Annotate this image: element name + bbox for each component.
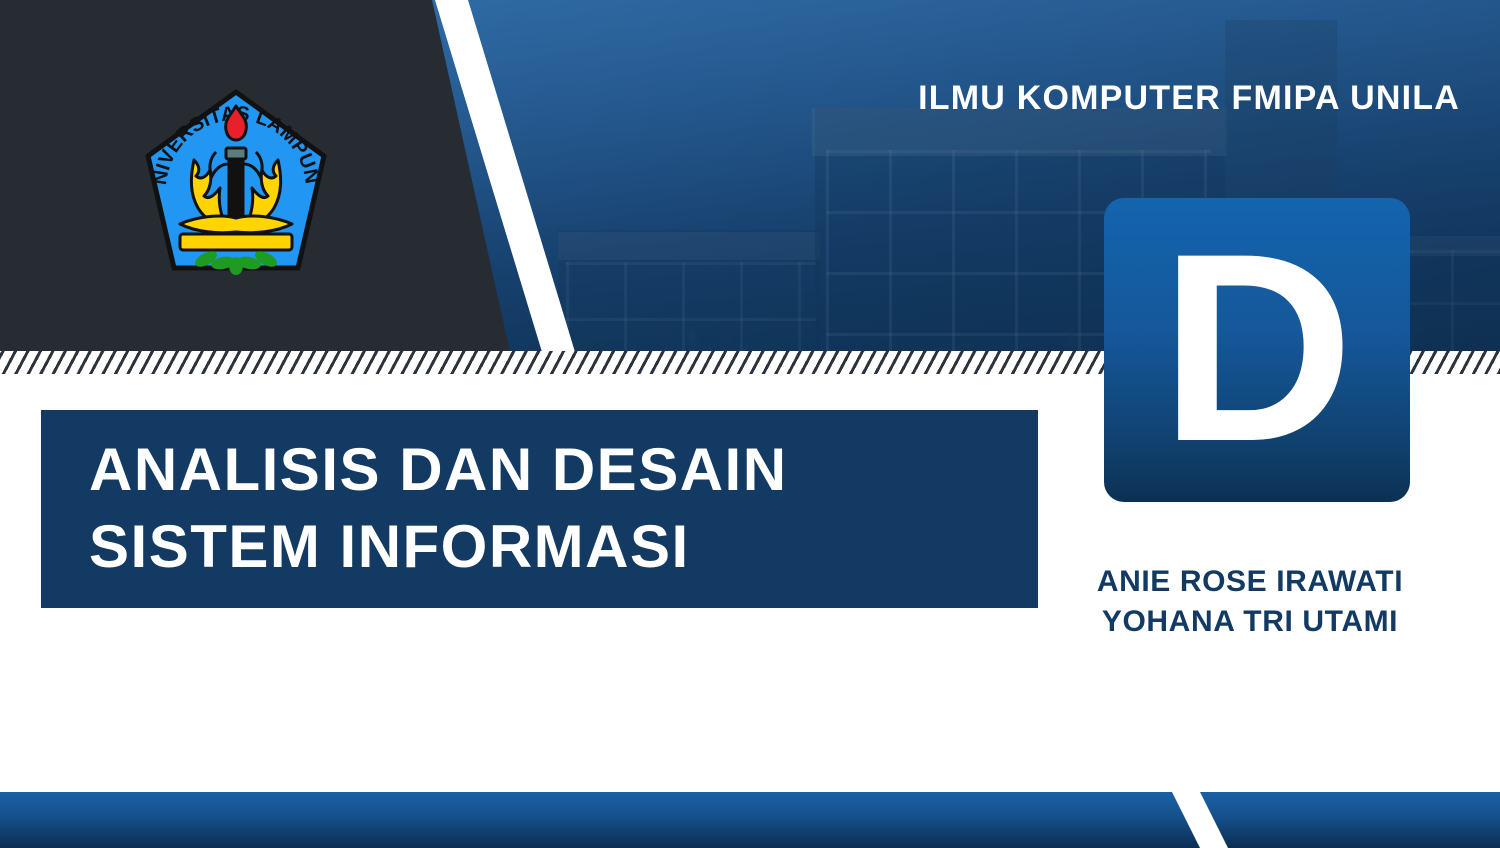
universitas-lampung-logo: UNIVERSITAS LAMPUNG <box>128 82 344 298</box>
bottom-accent-bar <box>0 792 1500 848</box>
author-name-2: YOHANA TRI UTAMI <box>1020 602 1480 642</box>
slide-title-line-1: ANALISIS DAN DESAIN <box>89 432 998 509</box>
presentation-slide: ILMU KOMPUTER FMIPA UNILA UNIVERSITAS LA… <box>0 0 1500 848</box>
letter-d-badge: D <box>1104 198 1410 502</box>
author-names: ANIE ROSE IRAWATI YOHANA TRI UTAMI <box>1020 562 1480 641</box>
letter-d-glyph: D <box>1160 213 1354 481</box>
slide-title-box: ANALISIS DAN DESAIN SISTEM INFORMASI <box>41 410 1038 608</box>
header-title: ILMU KOMPUTER FMIPA UNILA <box>700 80 1460 117</box>
slide-title-line-2: SISTEM INFORMASI <box>89 509 998 586</box>
author-name-1: ANIE ROSE IRAWATI <box>1020 562 1480 602</box>
